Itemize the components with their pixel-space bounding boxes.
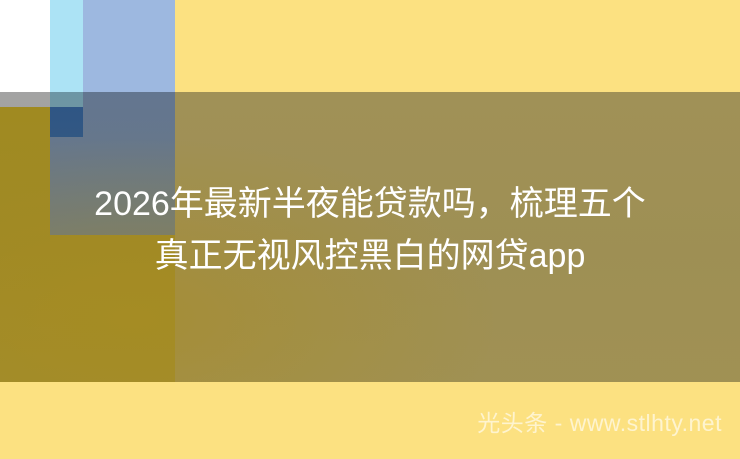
color-block-grey-left [0,92,50,107]
color-block-blue [83,0,175,92]
page-title: 2026年最新半夜能贷款吗，梳理五个 真正无视风控黑白的网贷app [0,178,740,282]
color-block-yellow-top [175,0,740,92]
color-block-deep-blue [50,107,83,137]
color-block-white [0,0,50,92]
color-block-teal [50,92,83,107]
page-title-line-1: 2026年最新半夜能贷款吗，梳理五个 [0,178,740,230]
color-block-cyan [50,0,83,92]
poster-canvas: 2026年最新半夜能贷款吗，梳理五个 真正无视风控黑白的网贷app 光头条 - … [0,0,740,459]
watermark-text: 光头条 - www.stlhty.net [477,408,722,438]
page-title-line-2: 真正无视风控黑白的网贷app [0,230,740,282]
